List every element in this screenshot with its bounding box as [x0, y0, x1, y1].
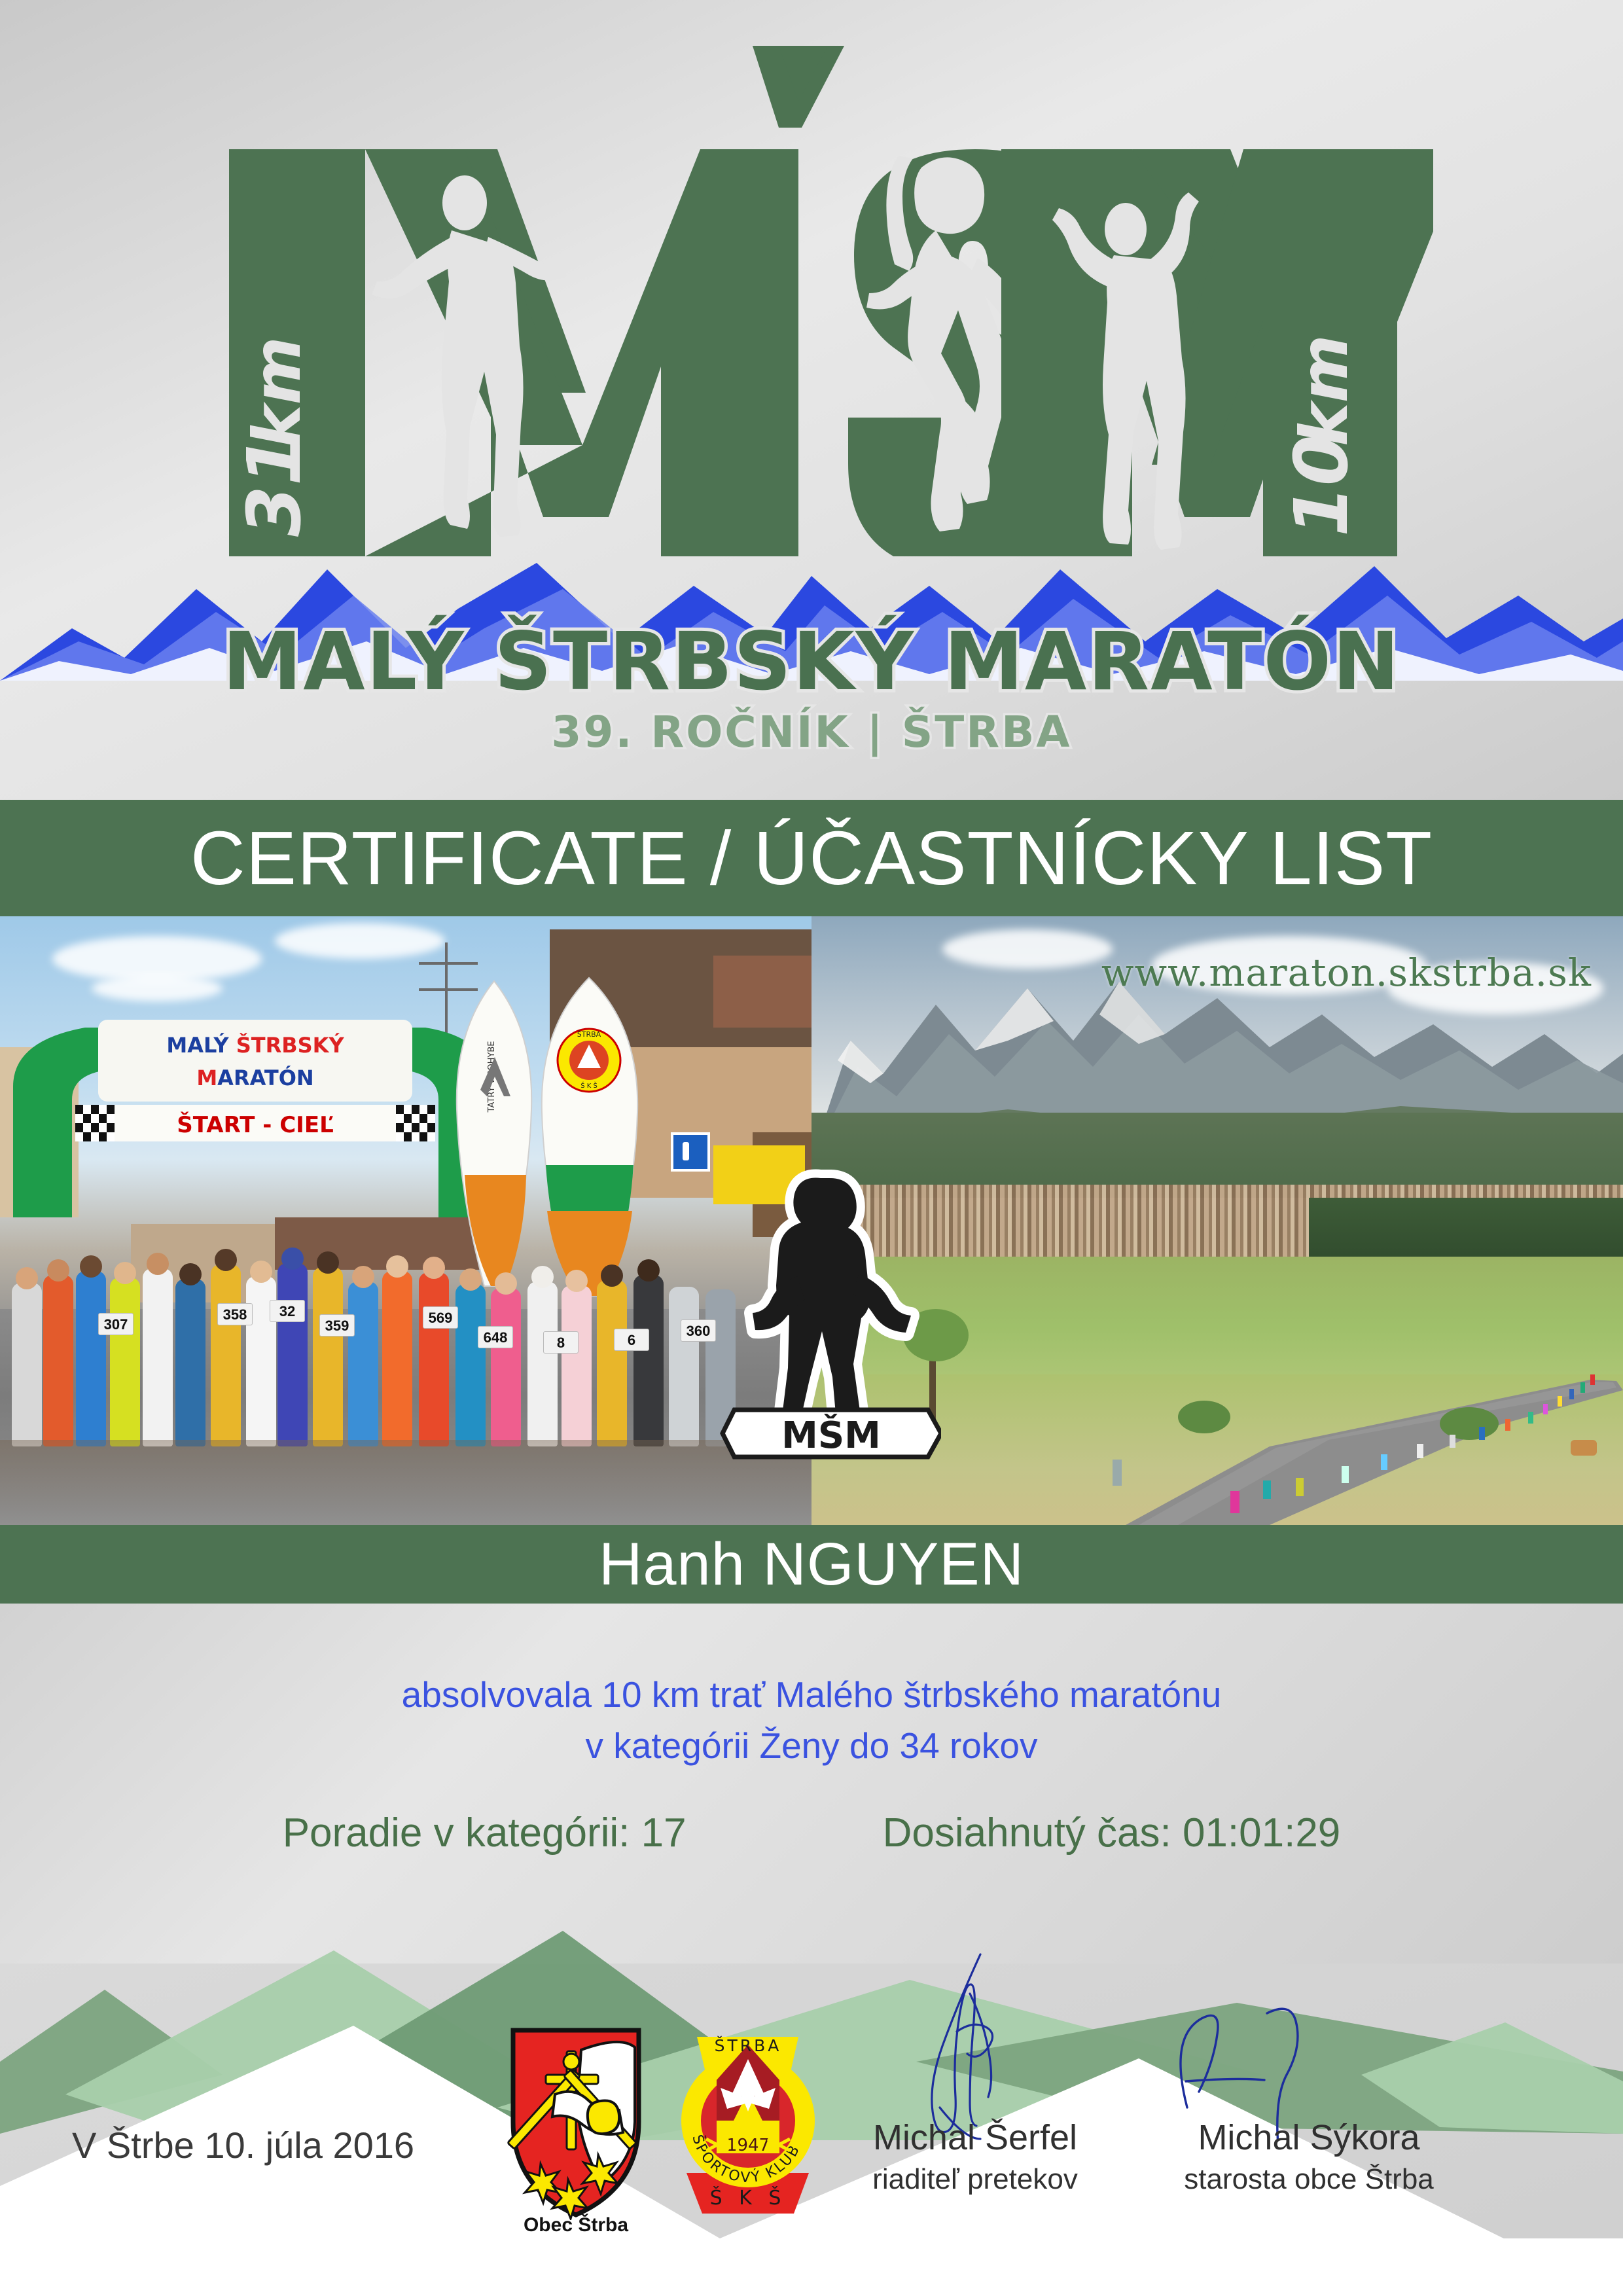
signatory-role: starosta obce Štrba [1139, 2163, 1479, 2196]
bib-number: 569 [423, 1306, 458, 1329]
svg-text:31: 31 [232, 435, 317, 537]
bib-number: 358 [217, 1303, 253, 1325]
bib-number: 360 [681, 1319, 716, 1342]
msm-logo-svg: 31 km [190, 39, 1433, 556]
signatory-name: Michal Šerfel [805, 2117, 1145, 2158]
certificate-heading-bar: CERTIFICATE / ÚČASTNÍCKY LIST [0, 800, 1623, 916]
inflatable-start-arch: MALÝ ŠTRBSKÝ MARATÓN ŠTART - [7, 1001, 510, 1217]
svg-text:ŠTRBA: ŠTRBA [715, 2036, 782, 2055]
crest-label: Obec Štrba [504, 2214, 648, 2236]
page-title: MALÝ ŠTRBSKÝ MARATÓN [0, 615, 1623, 708]
svg-text:km: km [1286, 334, 1363, 446]
svg-text:MARATÓN: MARATÓN [196, 1065, 313, 1090]
right-distance-label: 10 km [1279, 334, 1364, 537]
participant-name: Hanh NGUYEN [599, 1530, 1024, 1599]
description-line-2: v kategórii Ženy do 34 rokov [0, 1720, 1623, 1771]
svg-text:10: 10 [1279, 435, 1364, 537]
svg-text:ŠTART - CIEĽ: ŠTART - CIEĽ [177, 1111, 333, 1138]
finish-time: Dosiahnutý čas: 01:01:29 [883, 1810, 1341, 1856]
svg-text:ŠTRBA: ŠTRBA [577, 1030, 601, 1039]
svg-text:Š K Š: Š K Š [710, 2185, 787, 2210]
obec-strba-coat-of-arms-icon [504, 2024, 648, 2220]
tatra-valley-road-photo: www.maraton.skstrba.sk [811, 916, 1623, 1525]
letter-m-right [1001, 149, 1433, 556]
signatory-name: Michal Sýkora [1139, 2117, 1479, 2158]
bib-number: 32 [270, 1300, 305, 1322]
svg-text:Š K Š: Š K Š [580, 1081, 597, 1090]
bib-number: 648 [478, 1326, 513, 1348]
bib-number: 6 [614, 1329, 649, 1351]
bib-number: 8 [543, 1331, 579, 1354]
bib-number: 359 [319, 1314, 355, 1336]
description-line-1: absolvovala 10 km trať Malého štrbského … [0, 1669, 1623, 1720]
footer: V Štrbe 10. júla 2016 Obec Štrba [0, 2055, 1623, 2296]
page-subtitle: 39. ROČNÍK | ŠTRBA [0, 707, 1623, 757]
issue-date: V Štrbe 10. júla 2016 [72, 2124, 414, 2166]
svg-text:MALÝ ŠTRBSKÝ: MALÝ ŠTRBSKÝ [166, 1032, 344, 1058]
start-line-crowd-photo: MALÝ ŠTRBSKÝ MARATÓN ŠTART - [0, 916, 811, 1525]
msm-monogram-logo: 31 km [190, 39, 1433, 556]
signatory-role: riaditeľ pretekov [805, 2163, 1145, 2196]
signature-ink-sykora [1139, 1950, 1479, 2140]
sks-club-logo-icon: ŠTRBA 1947 ŠPORTOVÝ KLUB Š K Š [677, 2022, 818, 2219]
svg-text:km: km [239, 336, 315, 448]
tatry-v-pohybe-flag: TATRY V POHYBE [452, 978, 537, 1293]
photo-strip: MALÝ ŠTRBSKÝ MARATÓN ŠTART - [0, 916, 1623, 1525]
bib-number: 307 [98, 1313, 134, 1335]
website-url[interactable]: www.maraton.skstrba.sk [1101, 950, 1592, 995]
sks-teardrop-flag: ŠTRBA Š K Š [535, 975, 643, 1302]
participant-name-bar: Hanh NGUYEN [0, 1525, 1623, 1604]
svg-text:1947: 1947 [726, 2136, 770, 2155]
participant-description: absolvovala 10 km trať Malého štrbského … [0, 1669, 1623, 1771]
certificate-page: 31 km [0, 0, 1623, 2296]
signature-ink-serfel [805, 1950, 1145, 2140]
left-distance-label: 31 km [232, 336, 317, 537]
logo-header-block: 31 km [0, 0, 1623, 800]
result-stats: Poradie v kategórii: 17 Dosiahnutý čas: … [0, 1810, 1623, 1856]
certificate-heading-text: CERTIFICATE / ÚČASTNÍCKY LIST [190, 814, 1433, 902]
rank-in-category: Poradie v kategórii: 17 [283, 1810, 687, 1856]
participant-details-area: absolvovala 10 km trať Malého štrbského … [0, 1604, 1623, 1964]
